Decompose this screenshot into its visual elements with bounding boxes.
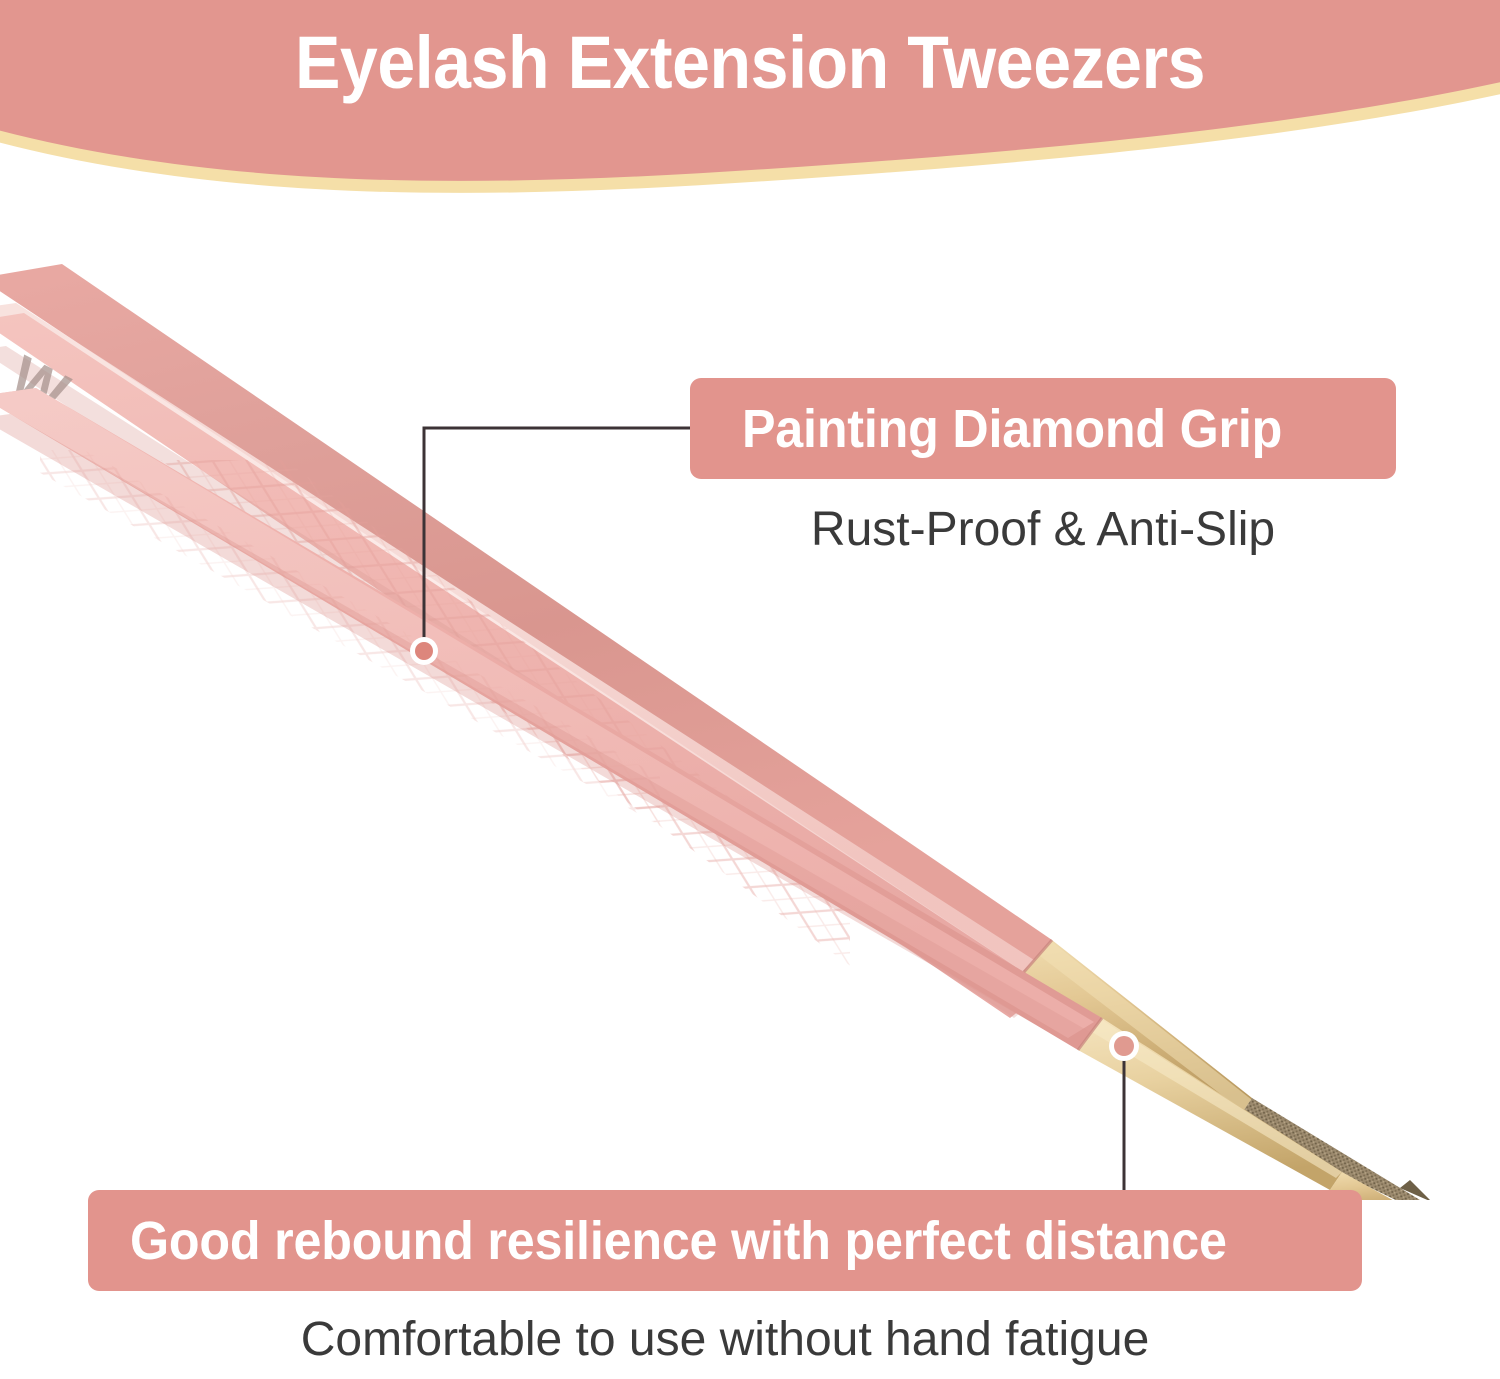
callout-label-grip: Painting Diamond Grip [742, 398, 1282, 460]
header-banner: Eyelash Extension Tweezers [0, 0, 1500, 215]
product-image: W [0, 200, 1500, 1200]
callout-label-rebound: Good rebound resilience with perfect dis… [130, 1210, 1227, 1272]
tweezer-upper-gold-tip [1024, 940, 1432, 1200]
lower-tip-gold-highlight [1092, 1020, 1342, 1178]
callout-subtitle-grip: Rust-Proof & Anti-Slip [690, 502, 1396, 557]
tweezers-illustration: W [0, 200, 1500, 1200]
product-infographic: Eyelash Extension Tweezers [0, 0, 1500, 1379]
tweezer-lower-arm [0, 388, 1102, 1050]
callout-box-rebound[interactable]: Good rebound resilience with perfect dis… [88, 1190, 1362, 1291]
callout-subtitle-rebound: Comfortable to use without hand fatigue [88, 1312, 1362, 1367]
upper-arm-body [0, 264, 1052, 972]
page-title: Eyelash Extension Tweezers [60, 26, 1440, 100]
callout-box-grip[interactable]: Painting Diamond Grip [690, 378, 1396, 479]
